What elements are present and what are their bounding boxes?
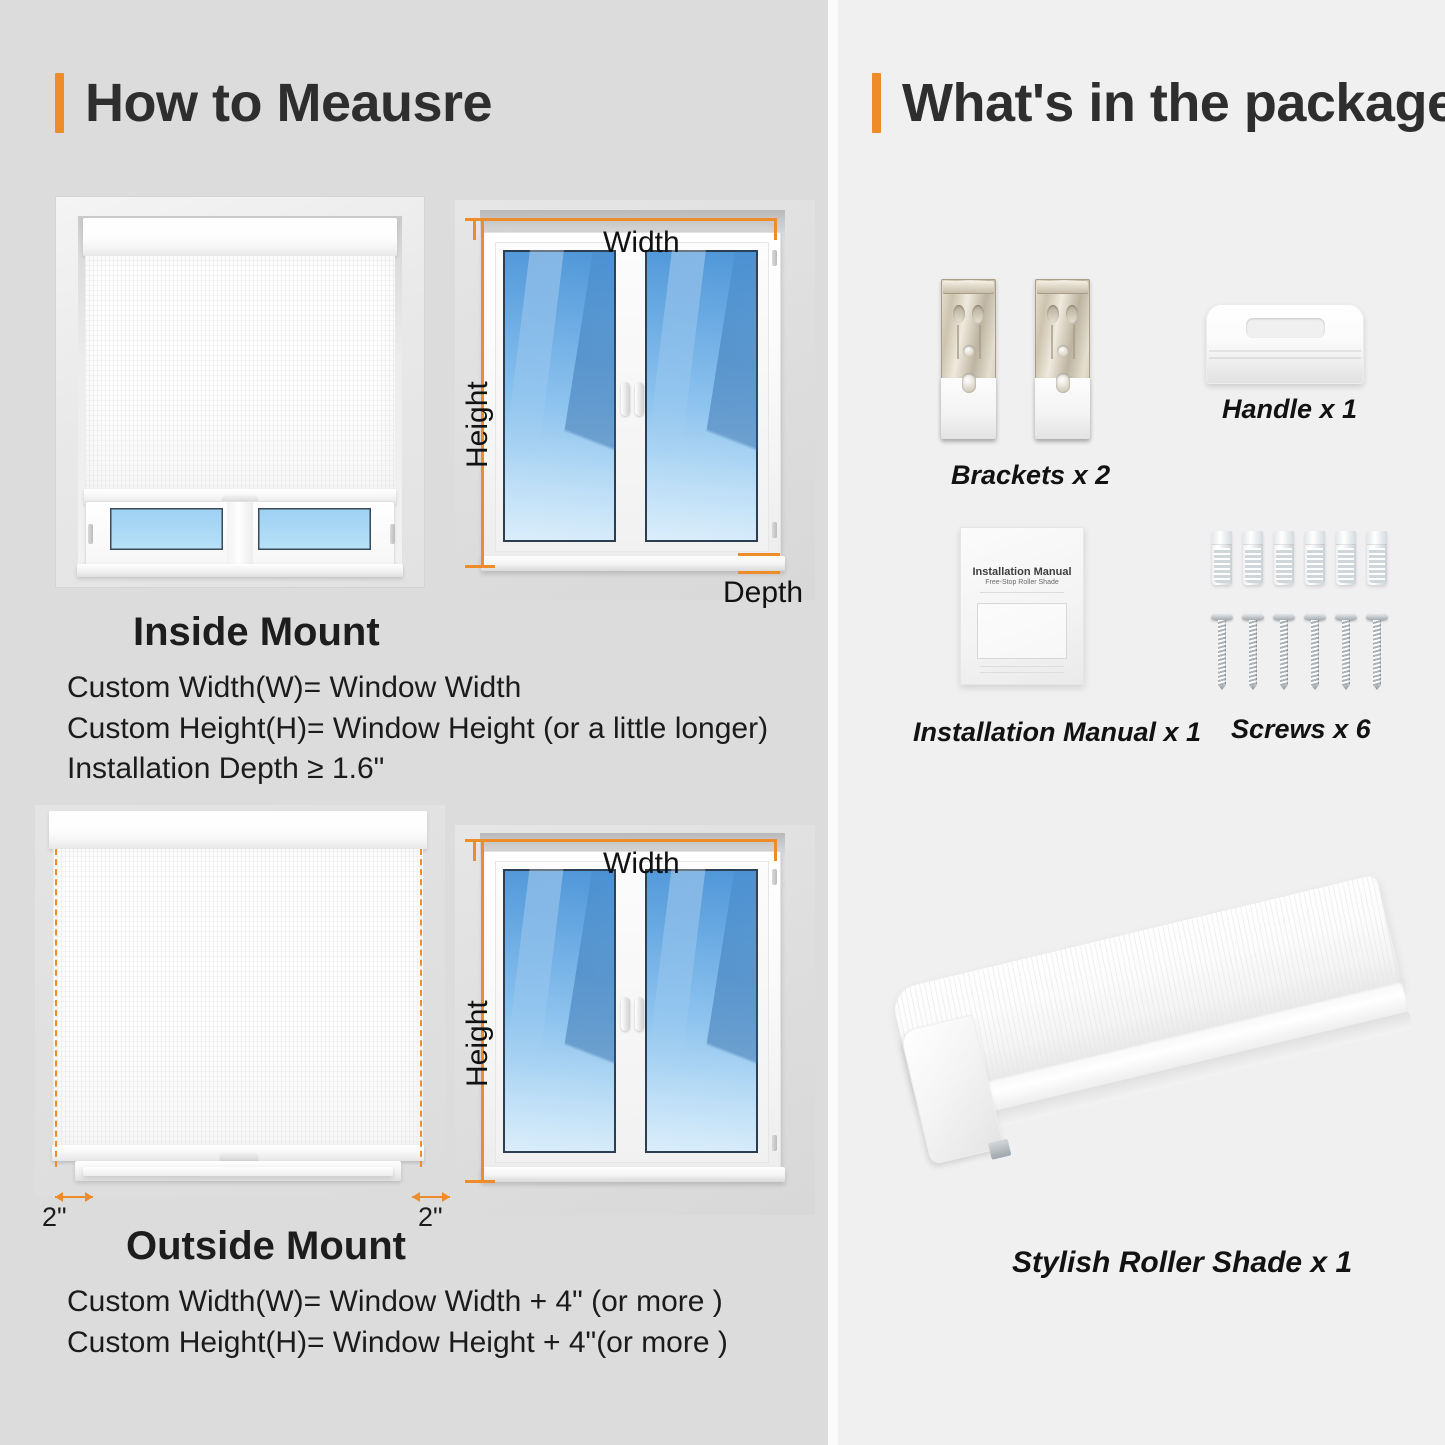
anchor-collar <box>1305 531 1325 545</box>
height-measure-cap-top <box>465 839 495 842</box>
wall-anchor <box>1212 531 1232 585</box>
screw-shaft <box>1218 620 1227 685</box>
window-hinge-left <box>88 524 93 544</box>
panel-divider <box>828 0 838 1445</box>
window-handle-right <box>635 382 644 416</box>
infographic-page: How to Meausre What's in the package <box>0 0 1445 1445</box>
manual-cover-rule <box>980 672 1064 673</box>
anchor-collar <box>1243 531 1263 545</box>
wall-anchor <box>1274 531 1294 585</box>
inside-mount-shade-illustration <box>55 196 425 588</box>
width-measure-cap-right <box>774 839 777 861</box>
anchor-collar <box>1367 531 1387 545</box>
installation-manual-label: Installation Manual x 1 <box>913 719 1201 746</box>
screw <box>1273 612 1295 690</box>
window-glass-right <box>258 508 371 550</box>
height-label: Height <box>463 381 493 468</box>
window-glass-left <box>503 869 616 1153</box>
shade-valance <box>83 218 397 256</box>
screw-tip <box>1342 685 1351 690</box>
width-label: Width <box>603 849 680 879</box>
bracket-part-1 <box>941 279 996 439</box>
manual-cover-rule <box>980 666 1064 667</box>
screw <box>1211 612 1233 690</box>
manual-cover-title: Installation Manual <box>970 567 1074 578</box>
handle-groove <box>1209 357 1361 359</box>
anchor-barbs <box>1245 548 1260 583</box>
window-handle-left <box>621 382 630 416</box>
screw <box>1366 612 1388 690</box>
anchor-barbs <box>1214 548 1229 583</box>
inside-mount-copy: Custom Width(W)= Window Width Custom Hei… <box>67 670 768 792</box>
overhang-arrow-right <box>412 1192 450 1202</box>
wall-anchor <box>1336 531 1356 585</box>
overhang-label-left: 2" <box>42 1204 67 1231</box>
inside-mount-heading: Inside Mount <box>133 612 380 652</box>
screw-shaft <box>1280 620 1289 685</box>
outside-mount-copy-line-2: Custom Height(H)= Window Height + 4"(or … <box>67 1325 728 1361</box>
screw <box>1304 612 1326 690</box>
shade-fabric <box>85 256 395 491</box>
inside-mount-window-diagram: Width Height Depth <box>455 200 815 600</box>
screw-tip <box>1249 685 1258 690</box>
screw <box>1242 612 1264 690</box>
installation-manual-part: Installation Manual Free-Stop Roller Sha… <box>960 527 1084 685</box>
bracket-mount-hole <box>962 373 976 393</box>
anchor-collar <box>1212 531 1232 545</box>
inside-mount-copy-line-3: Installation Depth ≥ 1.6" <box>67 751 768 787</box>
window-sill-front <box>83 1167 393 1176</box>
overhang-label-right: 2" <box>418 1204 443 1231</box>
roller-shade-label: Stylish Roller Shade x 1 <box>1012 1248 1352 1278</box>
how-to-measure-header: How to Meausre <box>55 73 492 133</box>
outside-mount-shade-illustration <box>35 805 445 1197</box>
overhang-guide-left <box>55 849 57 1167</box>
screws-label: Screws x 6 <box>1231 716 1371 743</box>
handle-groove <box>1209 350 1361 352</box>
width-measure-line <box>473 839 777 842</box>
overhang-arrow-left <box>55 1192 93 1202</box>
window-sill <box>481 556 785 571</box>
height-measure-cap-top <box>465 218 495 221</box>
anchor-barbs <box>1369 548 1384 583</box>
arrow-tip-icon <box>442 1192 450 1202</box>
window-glass-left <box>503 250 616 542</box>
accent-bar-icon <box>55 73 64 133</box>
height-measure-cap-bottom <box>465 565 495 568</box>
bracket-slot <box>1047 305 1059 323</box>
width-label: Width <box>603 228 680 258</box>
bracket-slot <box>1066 305 1078 323</box>
window-sill <box>481 1167 785 1182</box>
window-handle-right <box>635 997 644 1031</box>
window-hinge-bottom <box>772 522 777 538</box>
width-measure-cap-right <box>774 218 777 240</box>
window-hinge-top <box>772 250 777 266</box>
anchor-collar <box>1274 531 1294 545</box>
screw-shaft <box>1311 620 1320 685</box>
screw <box>1335 612 1357 690</box>
outside-mount-window-diagram: Width Height <box>455 825 815 1215</box>
inside-mount-copy-line-2: Custom Height(H)= Window Height (or a li… <box>67 711 768 747</box>
bracket-rib <box>957 325 959 359</box>
manual-cover-rule <box>980 592 1064 593</box>
inside-mount-copy-line-1: Custom Width(W)= Window Width <box>67 670 768 706</box>
wall-anchor <box>1305 531 1325 585</box>
window-mullion <box>227 502 253 566</box>
handle-grip-cutout <box>1246 318 1325 339</box>
how-to-measure-title: How to Meausre <box>85 76 492 130</box>
anchor-barbs <box>1307 548 1322 583</box>
overhang-guide-right <box>420 849 422 1167</box>
screw-tip <box>1218 685 1227 690</box>
anchor-barbs <box>1338 548 1353 583</box>
roller-shade-pin <box>988 1139 1011 1160</box>
screw-tip <box>1311 685 1320 690</box>
width-measure-line <box>473 218 777 221</box>
bracket-slot <box>972 305 984 323</box>
screw-tip <box>1373 685 1382 690</box>
window-glass-left <box>110 508 223 550</box>
width-measure-cap-left <box>473 839 476 861</box>
anchor-collar <box>1336 531 1356 545</box>
bracket-rib <box>979 325 981 359</box>
bracket-top-lip <box>943 281 994 294</box>
bracket-screw-hole <box>1057 345 1069 357</box>
bracket-rib <box>1073 325 1075 359</box>
handle-label: Handle x 1 <box>1222 396 1357 423</box>
window-glass-right <box>645 869 758 1153</box>
bracket-screw-hole <box>963 345 975 357</box>
outside-mount-heading: Outside Mount <box>126 1226 406 1266</box>
height-measure-cap-bottom <box>465 1180 495 1183</box>
window-sill <box>77 564 403 577</box>
package-header: What's in the package <box>872 73 1445 133</box>
window-handle-left <box>621 997 630 1031</box>
handle-part <box>1206 304 1364 384</box>
bracket-slot <box>953 305 965 323</box>
anchor-barbs <box>1276 548 1291 583</box>
bracket-top-lip <box>1037 281 1088 294</box>
screw-shaft <box>1342 620 1351 685</box>
shade-fabric <box>53 849 423 1147</box>
manual-cover-subtitle: Free-Stop Roller Shade <box>970 579 1074 586</box>
wall-anchor <box>1367 531 1387 585</box>
outside-mount-copy: Custom Width(W)= Window Width + 4" (or m… <box>67 1284 728 1365</box>
screw-tip <box>1280 685 1289 690</box>
depth-measure-cap <box>738 571 780 574</box>
window-hinge-bottom <box>772 1135 777 1151</box>
screw-shaft <box>1373 620 1382 685</box>
package-title: What's in the package <box>902 76 1445 130</box>
window-hinge-right <box>390 524 395 544</box>
window-hinge-top <box>772 869 777 885</box>
bracket-rib <box>1051 325 1053 359</box>
wall-anchor <box>1243 531 1263 585</box>
bracket-mount-hole <box>1056 373 1070 393</box>
brackets-label: Brackets x 2 <box>951 462 1110 489</box>
screw-shaft <box>1249 620 1258 685</box>
manual-cover-figure <box>977 603 1066 659</box>
width-measure-cap-left <box>473 218 476 240</box>
height-label: Height <box>463 1000 493 1087</box>
depth-label: Depth <box>723 578 803 608</box>
outside-mount-copy-line-1: Custom Width(W)= Window Width + 4" (or m… <box>67 1284 728 1320</box>
arrow-tip-icon <box>85 1192 93 1202</box>
depth-measure-line <box>738 553 780 556</box>
window-glass-right <box>645 250 758 542</box>
shade-valance <box>49 811 427 849</box>
bracket-part-2 <box>1035 279 1090 439</box>
accent-bar-icon <box>872 73 881 133</box>
